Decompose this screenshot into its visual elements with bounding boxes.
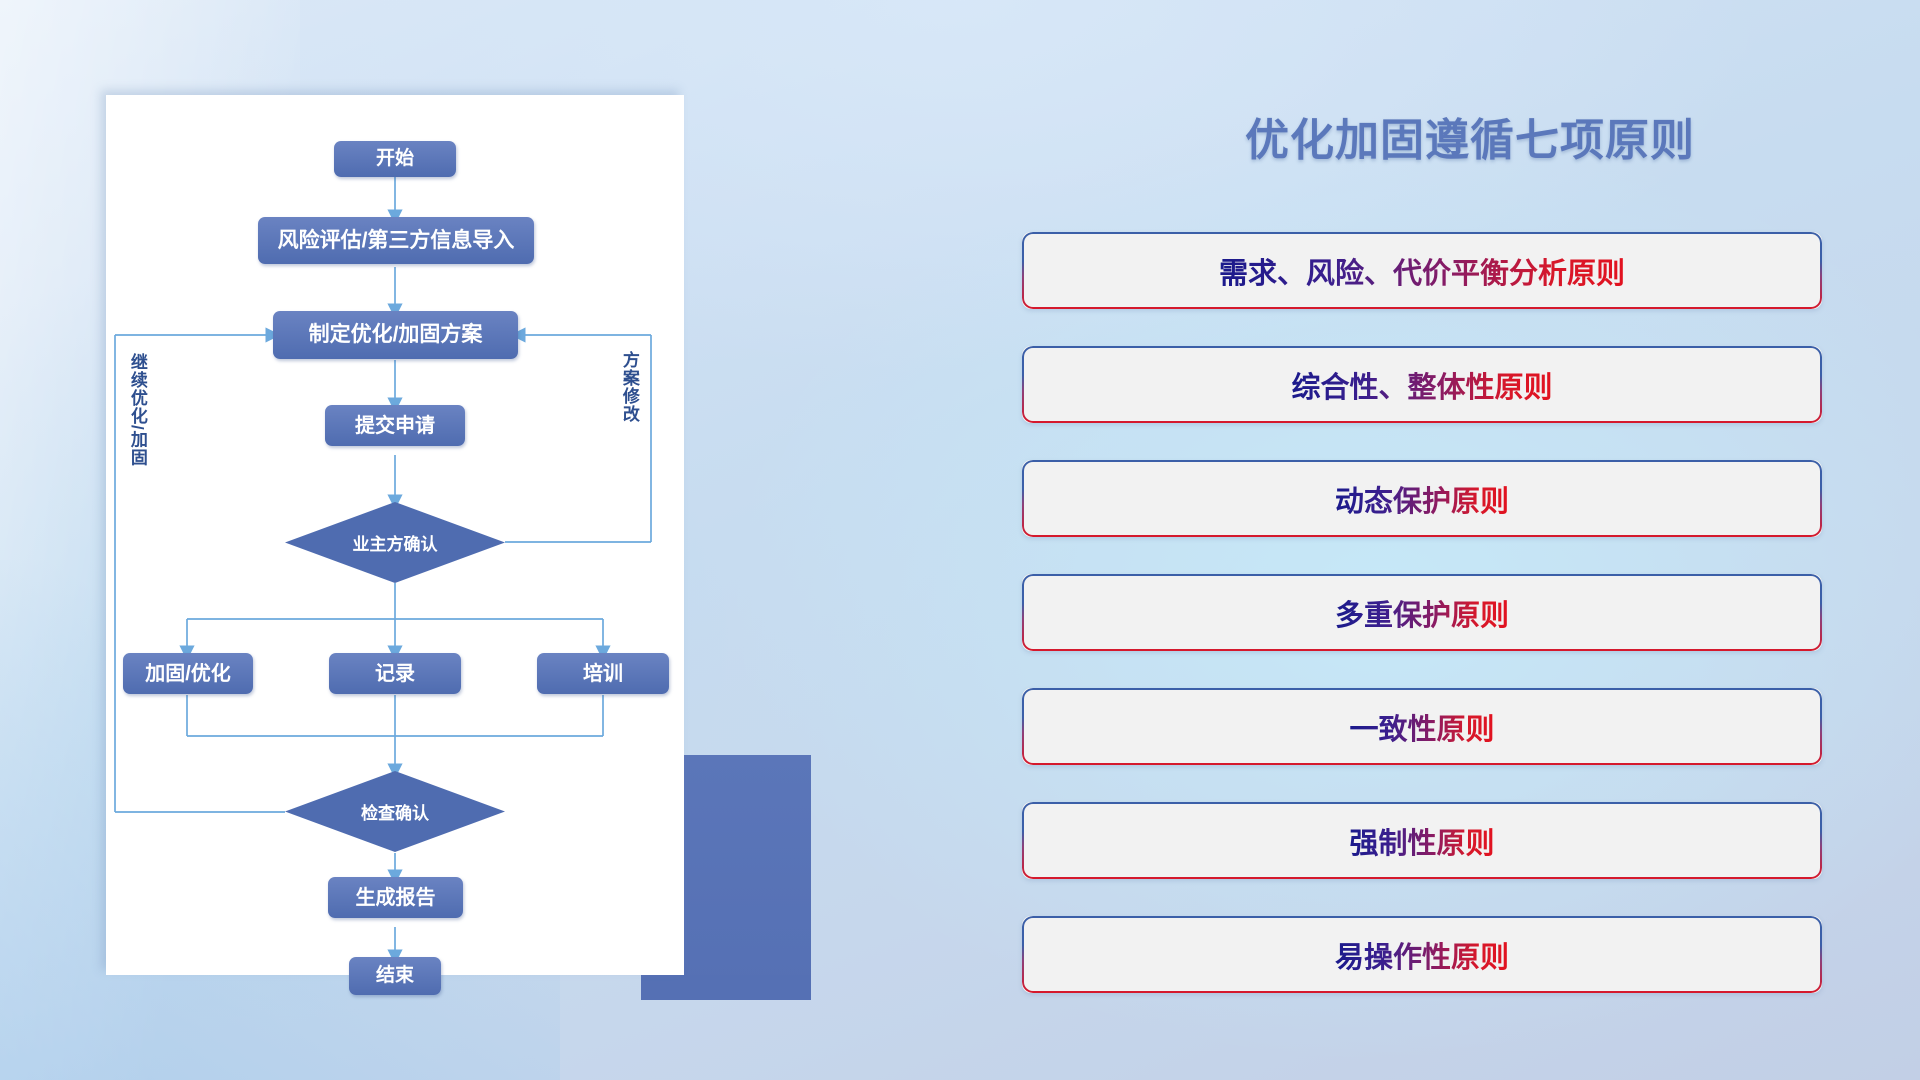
flow-node-end-label: 结束 bbox=[376, 966, 414, 987]
principle-item-5[interactable]: 一致性原则 bbox=[1022, 688, 1822, 765]
principle-item-1-label: 需求、风险、代价平衡分析原则 bbox=[1219, 250, 1625, 292]
principle-item-1[interactable]: 需求、风险、代价平衡分析原则 bbox=[1022, 232, 1822, 309]
principle-item-4[interactable]: 多重保护原则 bbox=[1022, 574, 1822, 651]
flow-node-plan-label: 制定优化/加固方案 bbox=[309, 323, 483, 346]
flow-node-training-label: 培训 bbox=[583, 663, 623, 685]
flow-node-start[interactable]: 开始 bbox=[334, 141, 456, 177]
principles-list: 需求、风险、代价平衡分析原则 综合性、整体性原则 动态保护原则 多重保护原则 一… bbox=[1022, 232, 1822, 1030]
card-accent-bar-bottom bbox=[641, 975, 811, 1000]
principle-item-6[interactable]: 强制性原则 bbox=[1022, 802, 1822, 879]
edge-label-continue-optimize: 继续优化/加固 bbox=[128, 353, 146, 493]
flow-node-owner-confirm[interactable]: 业主方确认 bbox=[285, 502, 505, 583]
flow-node-plan[interactable]: 制定优化/加固方案 bbox=[273, 311, 518, 359]
principle-item-7-label: 易操作性原则 bbox=[1335, 934, 1509, 976]
principle-item-7[interactable]: 易操作性原则 bbox=[1022, 916, 1822, 993]
flow-node-submit-application[interactable]: 提交申请 bbox=[325, 405, 465, 446]
flowchart-card: 开始 风险评估/第三方信息导入 制定优化/加固方案 提交申请 业主方确认 加固/… bbox=[106, 95, 684, 975]
flow-node-start-label: 开始 bbox=[376, 149, 414, 170]
principle-item-2-label: 综合性、整体性原则 bbox=[1291, 364, 1552, 406]
flow-node-generate-report-label: 生成报告 bbox=[356, 887, 436, 909]
flow-node-submit-application-label: 提交申请 bbox=[355, 415, 435, 437]
principle-item-2[interactable]: 综合性、整体性原则 bbox=[1022, 346, 1822, 423]
flow-node-end[interactable]: 结束 bbox=[349, 957, 441, 995]
flow-node-training[interactable]: 培训 bbox=[537, 653, 669, 694]
flowchart: 开始 风险评估/第三方信息导入 制定优化/加固方案 提交申请 业主方确认 加固/… bbox=[106, 95, 684, 975]
flow-node-risk-assessment-label: 风险评估/第三方信息导入 bbox=[278, 229, 515, 252]
flow-node-generate-report[interactable]: 生成报告 bbox=[328, 877, 463, 918]
principle-item-3[interactable]: 动态保护原则 bbox=[1022, 460, 1822, 537]
flow-node-reinforce-label: 加固/优化 bbox=[145, 663, 231, 685]
principle-item-3-label: 动态保护原则 bbox=[1335, 478, 1509, 520]
principle-item-6-label: 强制性原则 bbox=[1349, 820, 1494, 862]
flow-node-risk-assessment[interactable]: 风险评估/第三方信息导入 bbox=[258, 217, 534, 264]
principles-panel-title: 优化加固遵循七项原则 bbox=[1150, 104, 1790, 168]
edge-label-plan-revision: 方案修改 bbox=[620, 351, 638, 461]
flow-node-reinforce[interactable]: 加固/优化 bbox=[123, 653, 253, 694]
flow-node-check-confirm[interactable]: 检查确认 bbox=[285, 771, 505, 852]
flow-node-record[interactable]: 记录 bbox=[329, 653, 461, 694]
principle-item-4-label: 多重保护原则 bbox=[1335, 592, 1509, 634]
flow-node-record-label: 记录 bbox=[375, 663, 415, 685]
principle-item-5-label: 一致性原则 bbox=[1349, 706, 1494, 748]
